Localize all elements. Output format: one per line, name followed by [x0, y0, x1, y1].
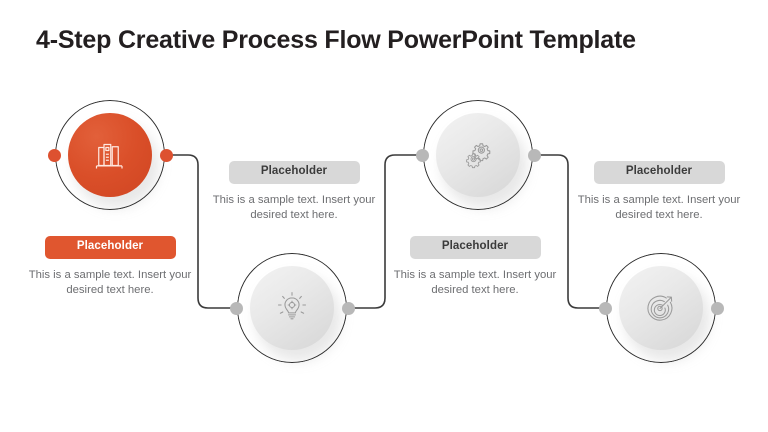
- step-node-2[interactable]: [233, 249, 351, 367]
- node-dot-right: [711, 302, 724, 315]
- target-arrow-icon: [643, 290, 679, 326]
- step-label-4[interactable]: Placeholder: [594, 161, 725, 184]
- node-disc: [68, 113, 152, 197]
- step-body-1: This is a sample text. Insert your desir…: [21, 268, 199, 298]
- step-body-3: This is a sample text. Insert your desir…: [386, 268, 564, 298]
- node-dot-right: [160, 149, 173, 162]
- step-text-block-1: Placeholder This is a sample text. Inser…: [21, 236, 199, 298]
- slide-canvas: 4-Step Creative Process Flow PowerPoint …: [0, 0, 768, 432]
- step-body-2: This is a sample text. Insert your desir…: [205, 193, 383, 223]
- node-dot-left: [599, 302, 612, 315]
- node-dot-left: [48, 149, 61, 162]
- node-disc: [436, 113, 520, 197]
- lightbulb-gear-icon: [274, 290, 310, 326]
- step-text-block-3: Placeholder This is a sample text. Inser…: [386, 236, 564, 298]
- node-dot-left: [230, 302, 243, 315]
- node-disc: [250, 266, 334, 350]
- node-dot-left: [416, 149, 429, 162]
- books-icon: [92, 137, 128, 173]
- step-body-4: This is a sample text. Insert your desir…: [570, 193, 748, 223]
- step-node-1[interactable]: [51, 96, 169, 214]
- step-text-block-2: Placeholder This is a sample text. Inser…: [205, 161, 383, 223]
- node-dot-right: [528, 149, 541, 162]
- node-dot-right: [342, 302, 355, 315]
- node-disc: [619, 266, 703, 350]
- step-node-4[interactable]: [602, 249, 720, 367]
- step-label-3[interactable]: Placeholder: [410, 236, 541, 259]
- gears-icon: [460, 137, 496, 173]
- step-text-block-4: Placeholder This is a sample text. Inser…: [570, 161, 748, 223]
- step-label-2[interactable]: Placeholder: [229, 161, 360, 184]
- step-node-3[interactable]: [419, 96, 537, 214]
- step-label-1[interactable]: Placeholder: [45, 236, 176, 259]
